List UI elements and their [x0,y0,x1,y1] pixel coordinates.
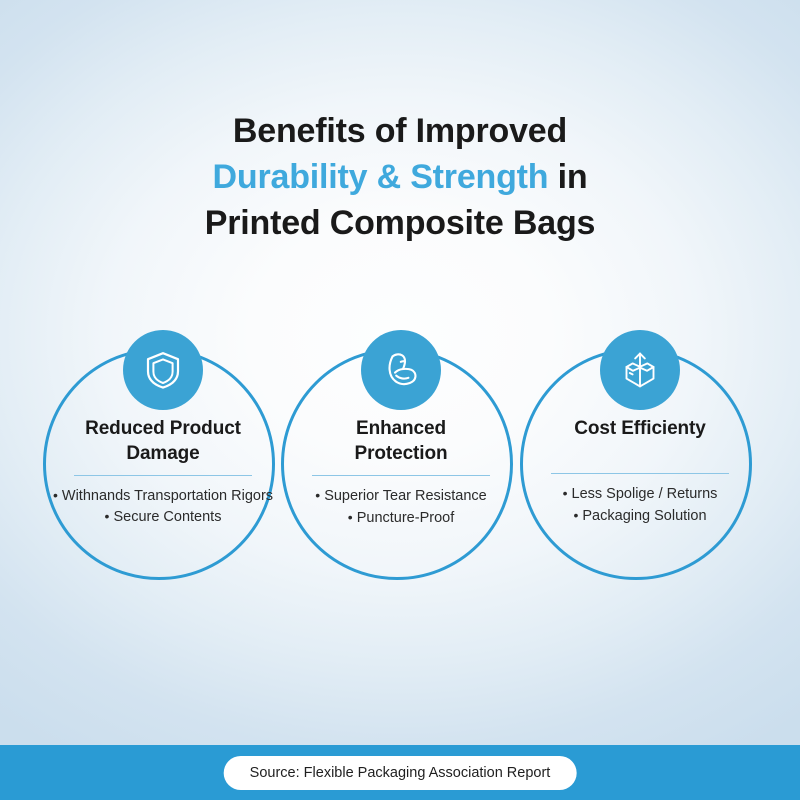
bullet-glyph: • [53,487,58,503]
list-item: • Puncture-Proof [282,507,520,529]
infographic-poster: Benefits of Improved Durability & Streng… [0,0,800,800]
bullet-glyph: • [315,487,320,503]
card-divider [551,473,729,474]
list-item: • Packaging Solution [521,505,759,527]
card-bullet-list: • Superior Tear Resistance • Puncture-Pr… [282,485,520,529]
title-line-2: Durability & Strength in [0,154,800,200]
card-title: Reduced Product Damage [44,416,282,466]
card-body: Enhanced Protection • Superior Tear Resi… [282,416,520,529]
flexed-bicep-icon [361,330,441,410]
card-title-line-1: Cost Efficienty [521,416,759,441]
title-line-2-tail: in [548,158,587,196]
card-divider [74,475,252,476]
card-divider [312,475,490,476]
bullet-glyph: • [105,508,110,524]
list-item-label: Packaging Solution [582,508,706,524]
footer-bar: Source: Flexible Packaging Association R… [0,745,800,800]
card-title: Enhanced Protection [282,416,520,466]
list-item: • Secure Contents [44,506,282,528]
open-box-arrow-icon [600,330,680,410]
list-item: • Less Spolige / Returns [521,483,759,505]
card-body: Reduced Product Damage • Withnands Trans… [44,416,282,528]
list-item-label: Superior Tear Resistance [324,488,487,504]
benefit-cards-row: Reduced Product Damage • Withnands Trans… [0,330,800,590]
shield-icon [123,330,203,410]
card-title: Cost Efficienty [521,416,759,441]
list-item-label: Less Spolige / Returns [572,486,718,502]
benefit-card-cost-efficiency[interactable]: Cost Efficienty • Less Spolige / Returns… [520,330,760,580]
list-item: • Withnands Transportation Rigors [44,485,282,506]
benefit-card-reduced-product-damage[interactable]: Reduced Product Damage • Withnands Trans… [43,330,283,580]
card-title-line-2: Protection [282,441,520,466]
list-item: • Superior Tear Resistance [282,485,520,507]
card-bullet-list: • Withnands Transportation Rigors • Secu… [44,485,282,528]
bullet-glyph: • [348,509,353,525]
list-item-label: Secure Contents [113,509,221,525]
card-title-line-2: Damage [44,441,282,466]
list-item-label: Puncture-Proof [357,510,455,526]
title-accent-text: Durability & Strength [213,158,549,196]
card-body: Cost Efficienty • Less Spolige / Returns… [521,416,759,527]
source-badge: Source: Flexible Packaging Association R… [224,756,577,790]
bullet-glyph: • [573,507,578,523]
title-line-1: Benefits of Improved [0,108,800,154]
benefit-card-enhanced-protection[interactable]: Enhanced Protection • Superior Tear Resi… [281,330,521,580]
card-title-line-1: Enhanced [282,416,520,441]
title-line-3: Printed Composite Bags [0,200,800,246]
card-bullet-list: • Less Spolige / Returns • Packaging Sol… [521,483,759,527]
list-item-label: Withnands Transportation Rigors [62,488,273,504]
card-title-line-1: Reduced Product [44,416,282,441]
bullet-glyph: • [563,485,568,501]
page-title: Benefits of Improved Durability & Streng… [0,108,800,246]
